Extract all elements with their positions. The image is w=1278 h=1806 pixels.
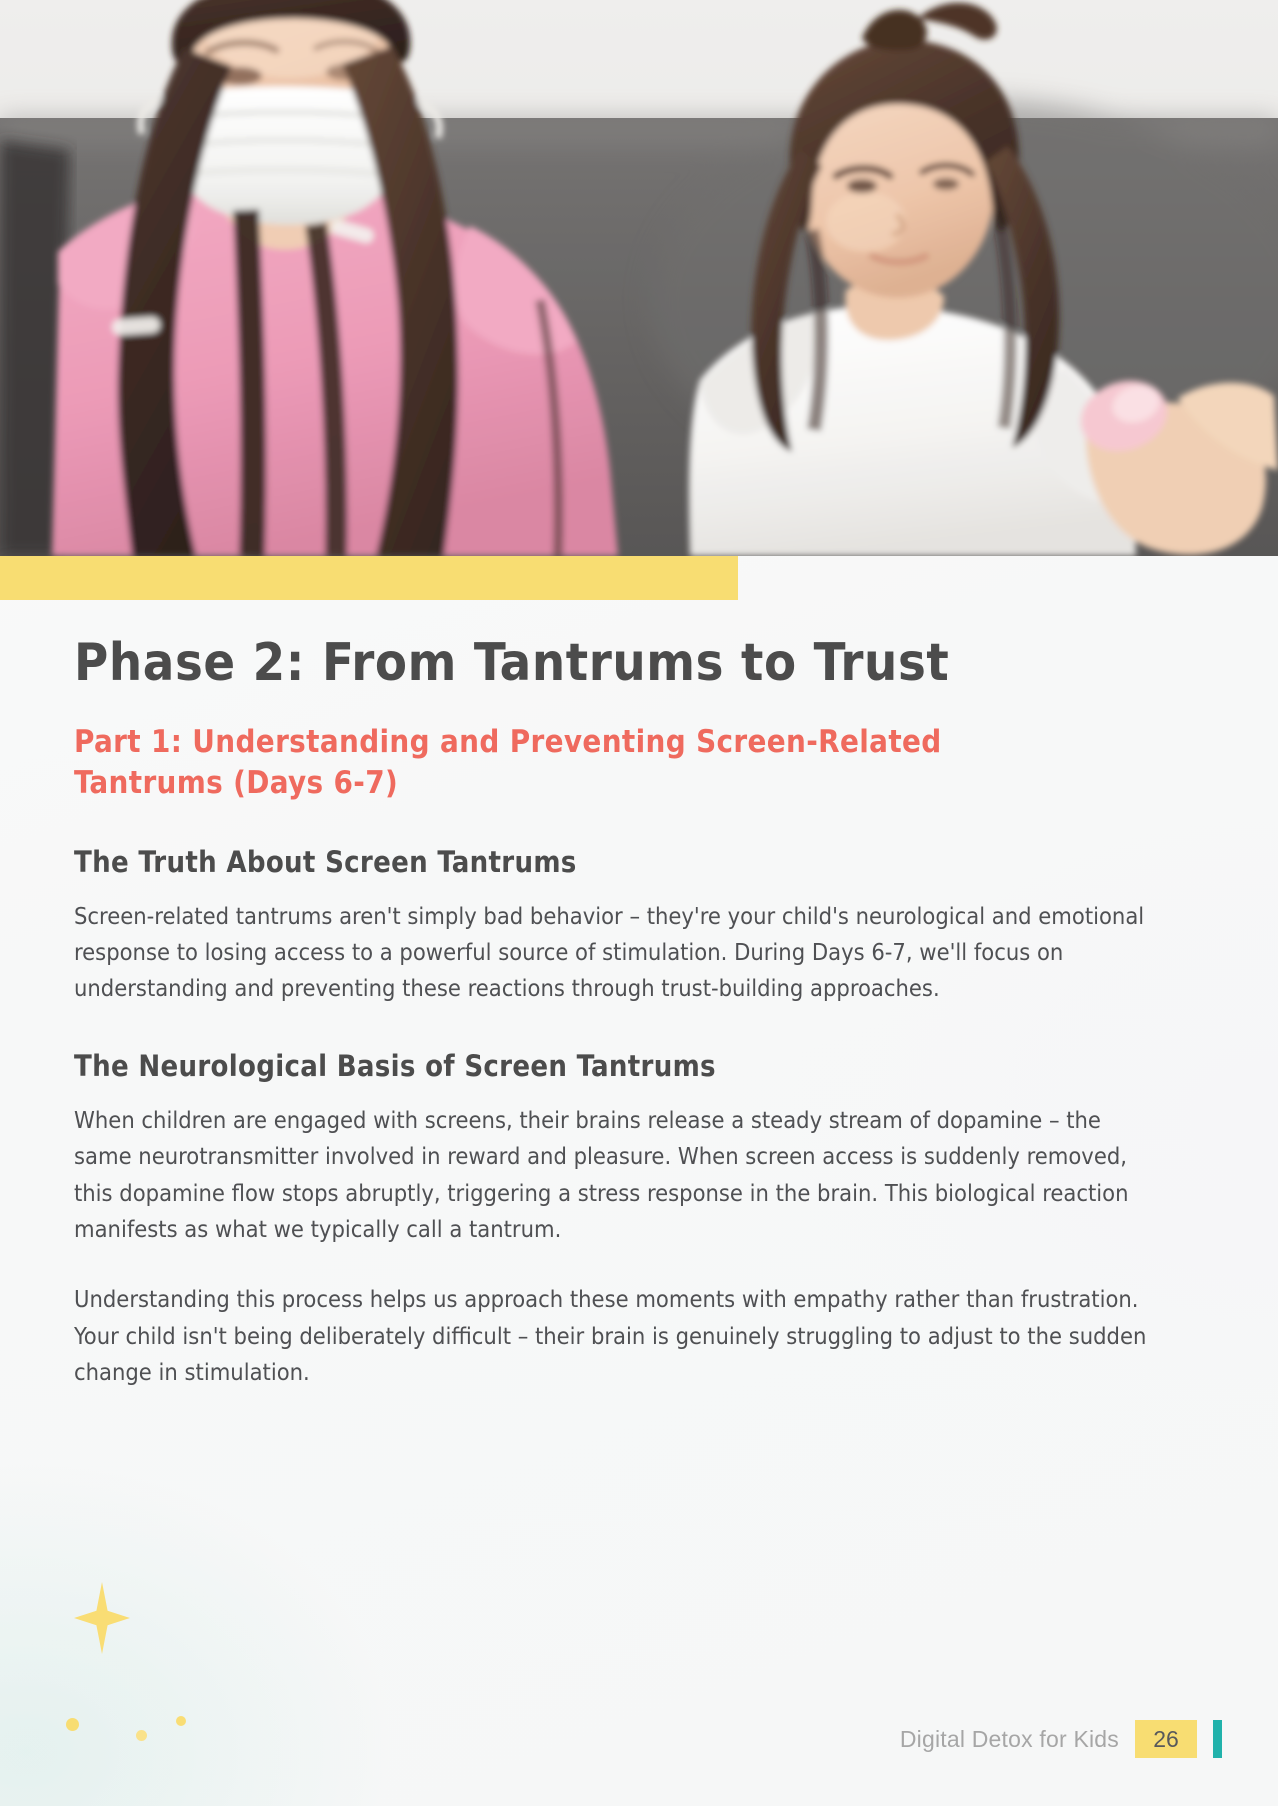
- ebook-page: Phase 2: From Tantrums to Trust Part 1: …: [0, 0, 1278, 1806]
- dot-icon: [176, 1716, 186, 1726]
- section-paragraph: Understanding this process helps us appr…: [74, 1281, 1164, 1390]
- page-footer: Digital Detox for Kids 26: [900, 1720, 1222, 1758]
- sparkle-decoration-group: [36, 1568, 256, 1768]
- section-paragraph: Screen-related tantrums aren't simply ba…: [74, 898, 1164, 1007]
- hero-photo: [0, 0, 1278, 556]
- dot-icon: [66, 1718, 79, 1731]
- section-heading: The Neurological Basis of Screen Tantrum…: [74, 1049, 1184, 1084]
- page-number-badge: 26: [1135, 1720, 1197, 1758]
- yellow-accent-bar: [0, 556, 738, 600]
- four-point-star-icon: [74, 1582, 130, 1654]
- section-heading: The Truth About Screen Tantrums: [74, 845, 1184, 880]
- page-content: Phase 2: From Tantrums to Trust Part 1: …: [74, 634, 1184, 1391]
- dot-icon: [136, 1730, 147, 1741]
- footer-teal-tick: [1213, 1720, 1222, 1758]
- hero-photo-illustration: [0, 0, 1278, 556]
- section-truth-about-screen-tantrums: The Truth About Screen Tantrums Screen-r…: [74, 845, 1184, 1007]
- page-subtitle: Part 1: Understanding and Preventing Scr…: [74, 722, 964, 803]
- section-paragraph: When children are engaged with screens, …: [74, 1102, 1164, 1248]
- footer-book-title: Digital Detox for Kids: [900, 1726, 1119, 1753]
- page-title: Phase 2: From Tantrums to Trust: [74, 634, 1184, 692]
- section-neurological-basis: The Neurological Basis of Screen Tantrum…: [74, 1049, 1184, 1391]
